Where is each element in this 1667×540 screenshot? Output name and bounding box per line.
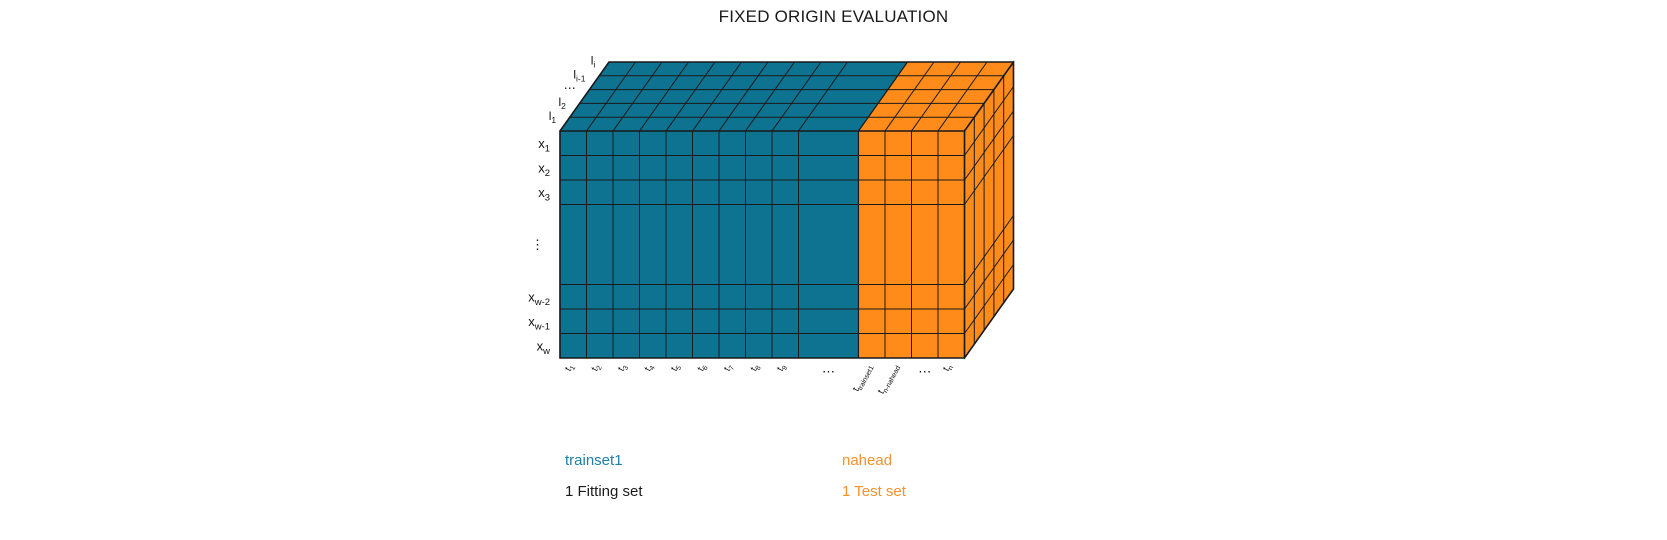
- depth-label-li: li: [591, 54, 596, 70]
- col-label-t2: t2: [590, 362, 604, 374]
- row-label-x1: x1: [538, 136, 550, 155]
- legend-label-nahead: Test set: [854, 483, 906, 500]
- col-label-t8: t8: [749, 362, 763, 374]
- col-label-t9: t9: [775, 362, 789, 374]
- col-label-t_n-nahead: tn-nahead: [876, 362, 902, 397]
- col-label-t5: t5: [669, 362, 683, 374]
- row-label-xw-2: xw-2: [528, 289, 550, 308]
- col-label-t_trainset1: ttrainset1: [851, 362, 876, 394]
- front-face-train: [560, 131, 859, 358]
- svg-text:t1: t1: [563, 362, 577, 374]
- svg-text:t8: t8: [749, 362, 763, 374]
- svg-text:t7: t7: [722, 362, 736, 374]
- legend-head-trainset1: trainset1: [565, 452, 623, 469]
- col-label-gap2: ⋯: [918, 364, 931, 379]
- svg-text:t4: t4: [643, 362, 657, 374]
- col-label-t3: t3: [616, 362, 630, 374]
- col-label-t7: t7: [722, 362, 736, 374]
- legend-sub-nahead: 1 Test set: [842, 483, 906, 500]
- row-label-x2: x2: [538, 160, 550, 179]
- figure-root: FIXED ORIGIN EVALUATION x1x2x3⋮xw-2xw-1x…: [0, 0, 1667, 540]
- cuboid-faces: [560, 62, 1014, 358]
- svg-text:tn: tn: [941, 362, 955, 374]
- svg-text:t5: t5: [669, 362, 683, 374]
- col-label-t4: t4: [643, 362, 657, 374]
- svg-text:t6: t6: [696, 362, 710, 374]
- svg-text:t9: t9: [775, 362, 789, 374]
- svg-text:t2: t2: [590, 362, 604, 374]
- depth-label-l1: l1: [549, 109, 557, 125]
- depth-label-l2: l2: [558, 95, 566, 111]
- svg-text:tn-nahead: tn-nahead: [876, 362, 902, 397]
- legend-label-trainset1: Fitting set: [578, 483, 643, 500]
- row-label-xw-1: xw-1: [528, 314, 550, 333]
- legend-head-nahead: nahead: [842, 452, 892, 469]
- row-label-gap: ⋮: [531, 237, 544, 252]
- depth-label-li-1: li-1: [573, 67, 585, 83]
- col-label-t_n: tn: [941, 362, 955, 374]
- depth-label-dots: ⋯: [564, 81, 576, 95]
- col-label-t1: t1: [563, 362, 577, 374]
- svg-text:t3: t3: [616, 362, 630, 374]
- legend-count-trainset1: 1: [565, 483, 578, 500]
- cuboid-diagram: x1x2x3⋮xw-2xw-1xwl1l2⋯li-1lit1t2t3t4t5t6…: [0, 0, 1667, 540]
- row-label-xw: xw: [537, 338, 551, 357]
- col-label-gap: ⋯: [822, 364, 835, 379]
- legend-sub-trainset1: 1 Fitting set: [565, 483, 643, 500]
- row-label-x3: x3: [538, 185, 550, 204]
- legend-count-nahead: 1: [842, 483, 854, 500]
- svg-text:ttrainset1: ttrainset1: [851, 362, 876, 394]
- col-label-t6: t6: [696, 362, 710, 374]
